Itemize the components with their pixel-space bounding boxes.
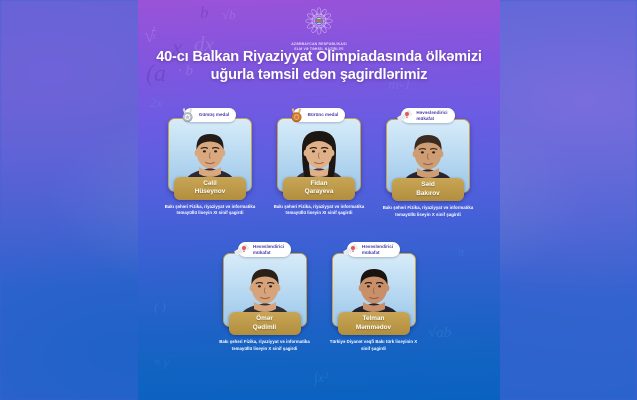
award-label: Həvəsləndirici mükafat <box>253 244 284 255</box>
student-description: Türkiyə Diyanət vəqfi Bakı türk liseyini… <box>326 339 422 352</box>
award-label: Gümüş medal <box>199 112 229 118</box>
certificate-scroll-icon <box>342 241 359 258</box>
award-badge: Həvəsləndirici mükafat <box>238 242 291 257</box>
award-badge: Həvəsləndirici mükafat <box>401 108 454 123</box>
student-name: Səid Bakırov <box>401 181 455 198</box>
student-description: Bakı şəhəri Fizika, riyaziyyat və inform… <box>271 204 367 217</box>
certificate-scroll-icon <box>396 107 413 124</box>
ministry-header: AZƏRBAYCAN RESPUBLİKASI ELM VƏ TƏHSİL NA… <box>138 6 500 52</box>
student-card: Həvəsləndirici mükafat Ömər QədimliBakı … <box>215 242 315 352</box>
silver-medal-icon <box>179 107 196 124</box>
student-name-plate: Fidan Qarayeva <box>283 177 355 200</box>
poster-image: √ x x dx b √b (a · b 2x m-1 √n ∑ a-1 π (… <box>138 0 500 400</box>
certificate-scroll-icon <box>342 241 359 258</box>
bronze-medal-icon <box>288 107 305 124</box>
student-card: Gümüş medal Cəlil HüseynovBakı şəhəri Fi… <box>160 108 260 218</box>
student-name-plate: Cəlil Hüseynov <box>174 177 246 200</box>
silver-medal-icon <box>179 107 196 124</box>
award-badge: Həvəsləndirici mükafat <box>347 242 400 257</box>
page-title: 40-cı Balkan Riyaziyyat Olimpiadasında ö… <box>154 48 484 85</box>
student-name-plate: Ömər Qədimli <box>229 312 301 335</box>
student-name: Telman Məmmədov <box>347 315 401 332</box>
student-description: Bakı şəhəri Fizika, riyaziyyat və inform… <box>217 339 313 352</box>
student-name: Cəlil Hüseynov <box>183 180 237 197</box>
student-name-plate: Telman Məmmədov <box>338 312 410 335</box>
certificate-scroll-icon <box>233 241 250 258</box>
azerbaijan-ministry-emblem-icon <box>304 6 334 36</box>
award-label: Bürünc medal <box>308 112 339 118</box>
student-name-plate: Səid Bakırov <box>392 178 464 201</box>
award-badge: Bürünc medal <box>293 108 346 122</box>
award-label: Həvəsləndirici mükafat <box>416 110 447 121</box>
student-card: Həvəsləndirici mükafat Səid BakırovBakı … <box>378 108 478 218</box>
student-name: Ömər Qədimli <box>238 315 292 332</box>
bronze-medal-icon <box>288 107 305 124</box>
student-description: Bakı şəhəri Fizika, riyaziyyat və inform… <box>380 205 476 218</box>
award-row-2: Həvəsləndirici mükafat Ömər QədimliBakı … <box>138 242 500 352</box>
student-name: Fidan Qarayeva <box>292 180 346 197</box>
student-card: Bürünc medal Fidan QarayevaBakı şəhəri F… <box>269 108 369 218</box>
award-label: Həvəsləndirici mükafat <box>362 244 393 255</box>
student-card: Həvəsləndirici mükafat Telman MəmmədovTü… <box>324 242 424 352</box>
student-description: Bakı şəhəri Fizika, riyaziyyat və inform… <box>162 204 258 217</box>
certificate-scroll-icon <box>396 107 413 124</box>
award-badge: Gümüş medal <box>184 108 236 122</box>
award-row-1: Gümüş medal Cəlil HüseynovBakı şəhəri Fi… <box>138 108 500 218</box>
certificate-scroll-icon <box>233 241 250 258</box>
